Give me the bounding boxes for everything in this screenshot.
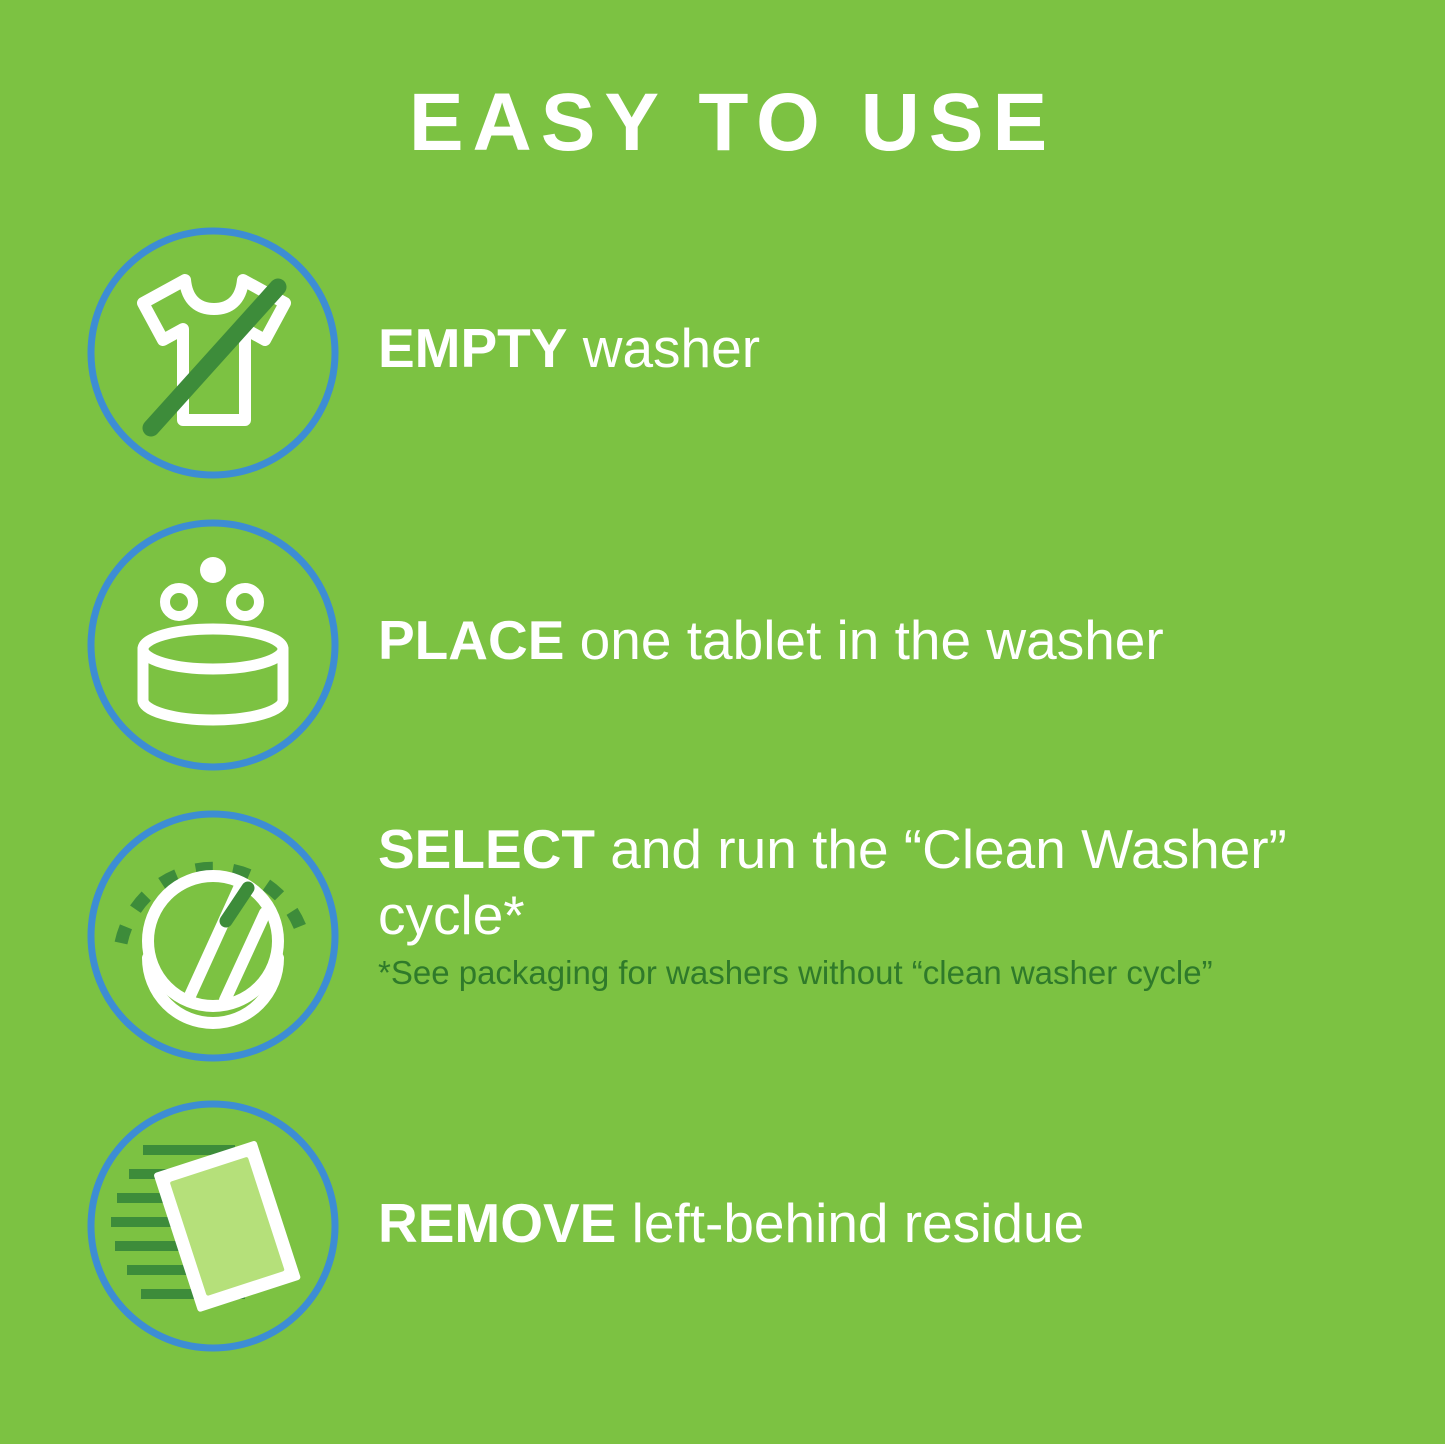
step-keyword: EMPTY	[378, 317, 567, 379]
step-rest: one tablet in the washer	[564, 609, 1163, 671]
step-text: REMOVE left-behind residue	[378, 1190, 1368, 1256]
step-keyword: REMOVE	[378, 1192, 616, 1254]
step-rest: left-behind residue	[616, 1192, 1084, 1254]
washer-dial-icon	[85, 808, 341, 1064]
step-keyword: SELECT	[378, 818, 595, 880]
step-text: SELECT and run the “Clean Washer” cycle*…	[378, 816, 1368, 993]
step-rest: washer	[567, 317, 760, 379]
step-footnote: *See packaging for washers without “clea…	[378, 952, 1258, 993]
step-line: SELECT and run the “Clean Washer” cycle*	[378, 816, 1368, 948]
step-text: EMPTY washer	[378, 315, 1368, 381]
step-line: EMPTY washer	[378, 315, 1368, 381]
step-keyword: PLACE	[378, 609, 564, 671]
step-line: REMOVE left-behind residue	[378, 1190, 1368, 1256]
step-line: PLACE one tablet in the washer	[378, 607, 1368, 673]
wipe-residue-icon	[85, 1098, 341, 1354]
steps-list: EMPTY washer	[0, 0, 1445, 1444]
tablet-with-bubbles-icon	[85, 517, 341, 773]
easy-to-use-infographic: EASY TO USE EMPTY washer	[0, 0, 1445, 1444]
no-clothes-icon	[85, 225, 341, 481]
step-text: PLACE one tablet in the washer	[378, 607, 1368, 673]
